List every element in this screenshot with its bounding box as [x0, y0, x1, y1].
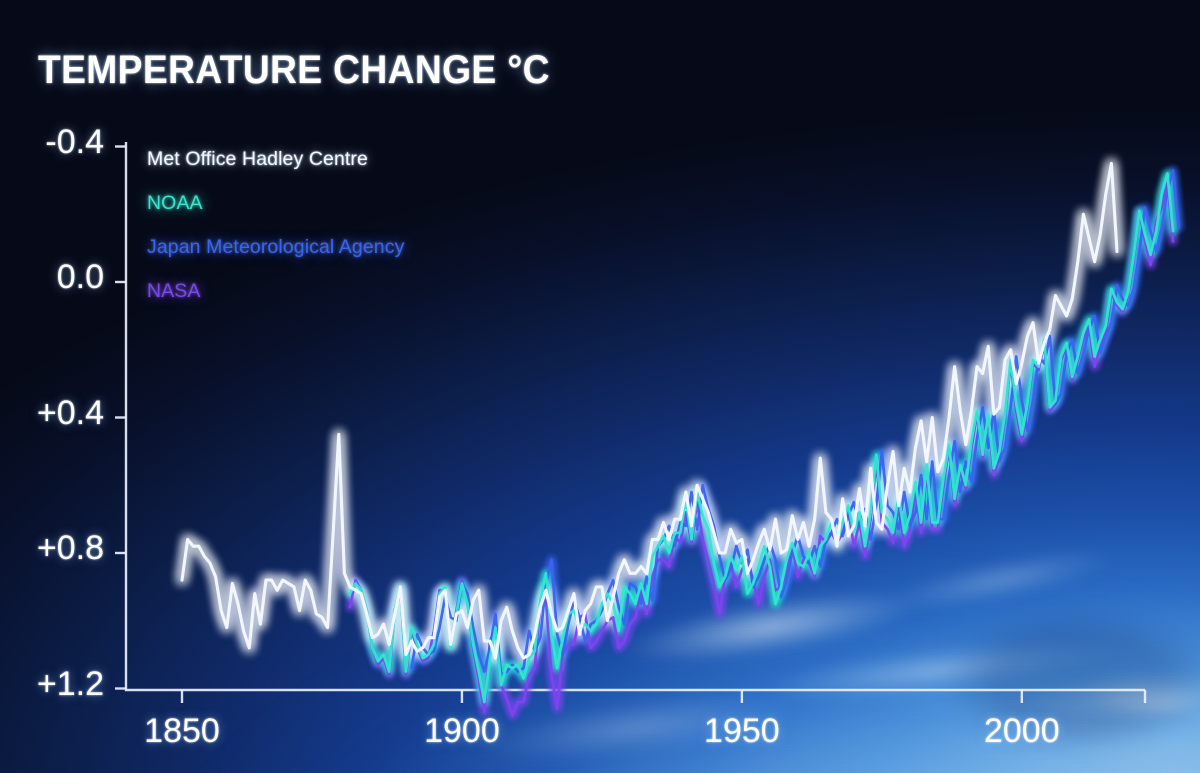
series-jma-line — [412, 170, 1179, 675]
y-axis-label: +1.2 — [0, 665, 104, 704]
screenshot-root: TEMPERATURE CHANGE °C Met Office Hadley … — [0, 0, 1200, 773]
y-axis-label: +0.8 — [0, 529, 104, 568]
y-axis-label: 0.0 — [0, 258, 104, 297]
x-axis-label: 2000 — [932, 712, 1112, 751]
x-axis-label: 1850 — [92, 712, 272, 751]
temperature-line-chart — [0, 0, 1200, 773]
series-line-layer — [182, 163, 1179, 715]
x-axis-label: 1950 — [652, 712, 832, 751]
x-axis-label: 1900 — [372, 712, 552, 751]
chart-plot: +1.2+0.8+0.40.0-0.4 1850190019502000 — [0, 0, 1200, 773]
series-glow-layer — [182, 163, 1179, 715]
series-jma-glow — [412, 170, 1179, 675]
y-axis-label: -0.4 — [0, 123, 104, 162]
y-axis-label: +0.4 — [0, 394, 104, 433]
